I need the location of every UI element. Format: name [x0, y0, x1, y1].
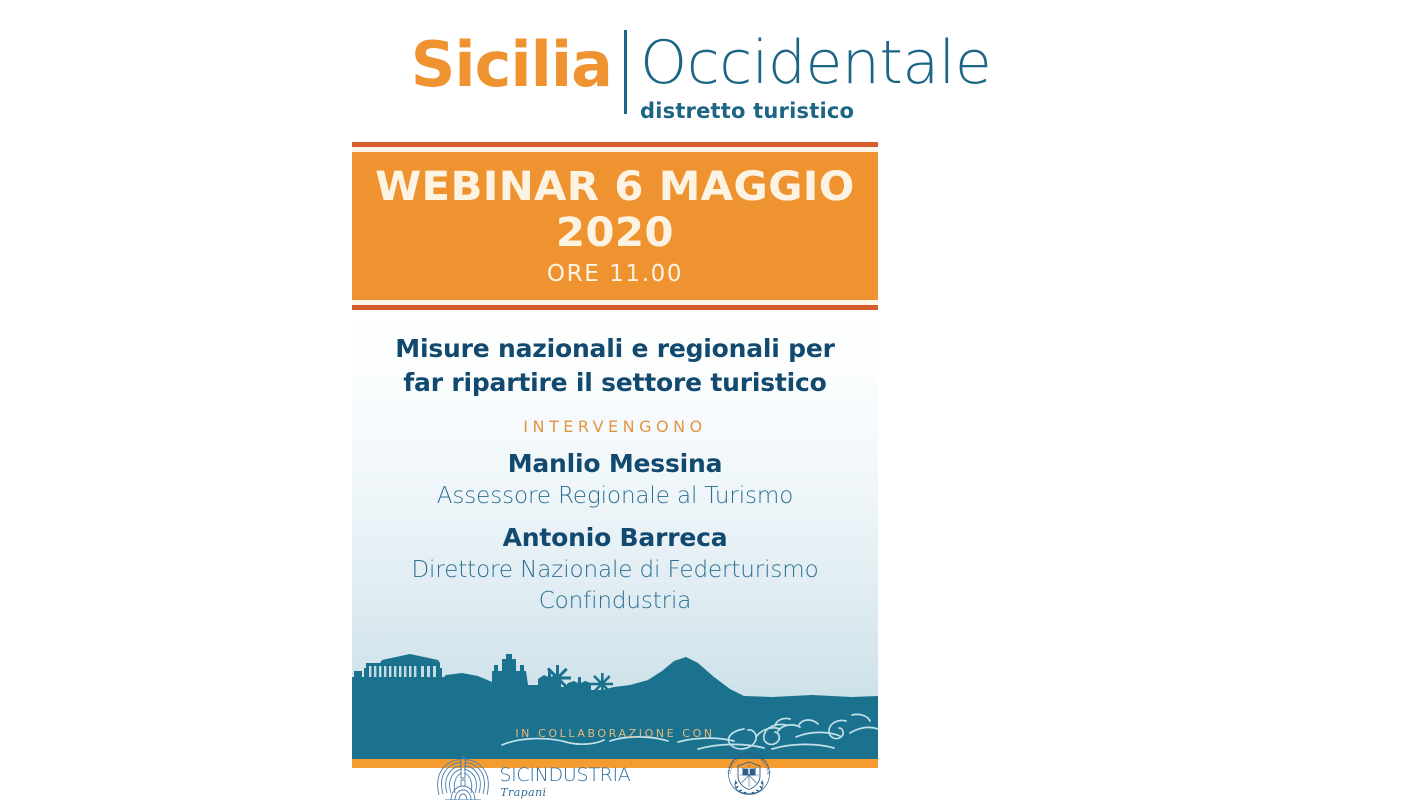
brand-divider	[624, 30, 627, 114]
speaker-role: Assessore Regionale al Turismo	[352, 481, 878, 512]
webinar-banner: WEBINAR 6 MAGGIO 2020 ORE 11.00	[352, 152, 878, 300]
poster-body: WEBINAR 6 MAGGIO 2020 ORE 11.00 Misure n…	[352, 142, 878, 716]
brand-logo: Sicilia Occidentale distretto turistico	[0, 28, 1402, 123]
headline-line-1: Misure nazionali e regionali per	[370, 332, 860, 366]
webinar-time: ORE 11.00	[352, 259, 878, 289]
brand-word-sicilia: Sicilia	[411, 28, 612, 102]
page-title: Misure nazionali e regionali per far rip…	[352, 332, 878, 400]
hospitality-crest-emblem-icon: L'OSPITALITÀ ITALIANA	[725, 750, 773, 798]
speaker-entry: Manlio Messina Assessore Regionale al Tu…	[352, 447, 878, 512]
speaker-role-cont: Confindustria	[352, 586, 878, 617]
eagle-emblem-icon	[435, 750, 491, 800]
poster-canvas: Sicilia Occidentale distretto turistico …	[0, 0, 1402, 800]
speaker-role: Direttore Nazionale di Federturismo	[352, 555, 878, 586]
brand-word-occidentale: Occidentale	[640, 28, 991, 98]
collaboration-label: IN COLLABORAZIONE CON	[352, 727, 878, 741]
headline-line-2: far ripartire il settore turistico	[370, 366, 860, 400]
speaker-name: Manlio Messina	[352, 447, 878, 481]
footer-partners: IN COLLABORAZIONE CON	[352, 727, 878, 800]
partner-logo-sicindustria: SICINDUSTRIA Trapani	[435, 750, 630, 800]
speaker-name: Antonio Barreca	[352, 521, 878, 555]
poster-content: Misure nazionali e regionali per far rip…	[352, 310, 878, 759]
partner-city: Trapani	[500, 786, 546, 799]
speaker-entry: Antonio Barreca Direttore Nazionale di F…	[352, 521, 878, 617]
partner-logo-federalberghi: L'OSPITALITÀ ITALIANA	[702, 750, 794, 800]
brand-tagline: distretto turistico	[640, 99, 854, 123]
speakers-section-label: INTERVENGONO	[352, 416, 878, 438]
webinar-date-title: WEBINAR 6 MAGGIO 2020	[341, 164, 888, 256]
partner-name: SICINDUSTRIA	[499, 765, 630, 786]
